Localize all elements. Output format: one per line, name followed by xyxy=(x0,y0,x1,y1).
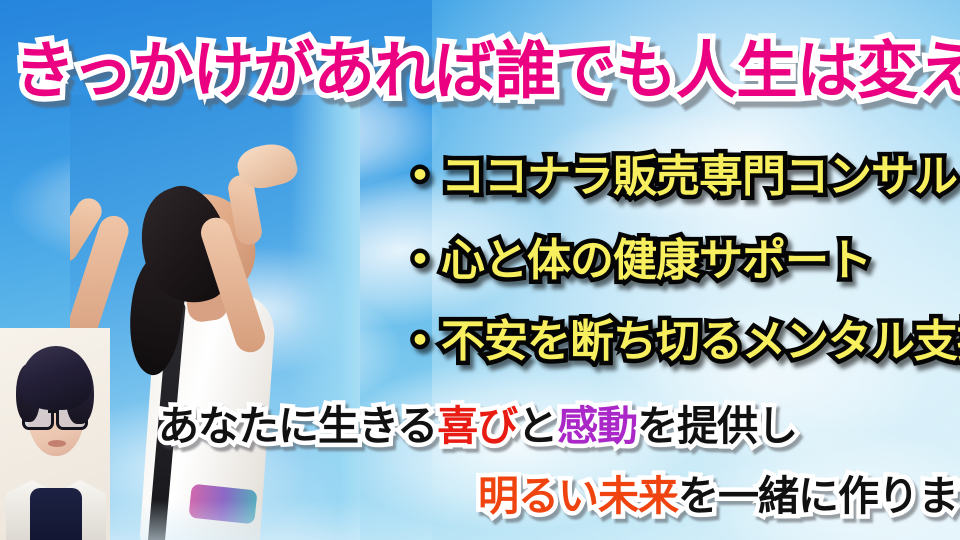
tagline-segment: と xyxy=(517,402,557,450)
promo-banner: きっかけがあれば誰でも人生は変えられる!! ・ココナラ販売専門コンサル ・心と体… xyxy=(0,0,960,540)
hero-photo-edge-fade xyxy=(290,95,360,540)
tagline-segment: あなたに生きる xyxy=(158,402,437,450)
page-title: きっかけがあれば誰でも人生は変えられる!! xyxy=(14,20,960,110)
bullet-item-1: ・ココナラ販売専門コンサル xyxy=(398,140,957,204)
tagline-highlight-emotion: 感動 xyxy=(557,402,637,450)
tagline-line-2: 明るい未来を一緒に作ります!! xyxy=(478,462,960,522)
hero-photo-woman-arms-raised xyxy=(70,95,360,540)
avatar-inner-top xyxy=(30,488,82,540)
bullet-marker: ・ xyxy=(398,316,441,367)
bullet-item-2: ・心と体の健康サポート xyxy=(398,224,871,288)
tagline-segment: を一緒に作ります!! xyxy=(678,472,960,520)
hero-photo-bottom-fade xyxy=(70,500,360,540)
tagline-highlight-bright-future: 明るい未来 xyxy=(478,472,678,520)
glasses-bridge-icon xyxy=(48,410,56,413)
bullet-label: 不安を断ち切るメンタル支援 xyxy=(441,316,960,367)
bullet-label: ココナラ販売専門コンサル xyxy=(441,151,957,202)
tagline-segment: を提供し xyxy=(637,402,797,450)
tagline-line-1: あなたに生きる喜びと感動を提供し xyxy=(158,392,797,452)
bullet-label: 心と体の健康サポート xyxy=(441,235,871,286)
bullet-marker: ・ xyxy=(398,235,441,286)
tagline-highlight-joy: 喜び xyxy=(437,402,517,450)
avatar-mouth xyxy=(48,440,66,447)
avatar xyxy=(0,328,110,540)
bullet-marker: ・ xyxy=(398,151,441,202)
bullet-item-3: ・不安を断ち切るメンタル支援 xyxy=(398,305,960,369)
